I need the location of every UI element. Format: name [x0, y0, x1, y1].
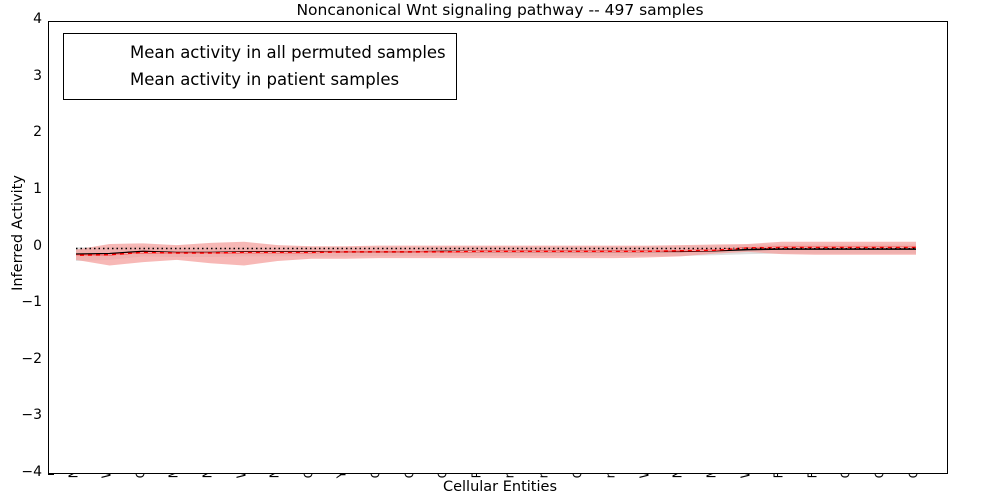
- chart-figure: Noncanonical Wnt signaling pathway -- 49…: [0, 0, 1000, 500]
- legend-label-permuted: Mean activity in all permuted samples: [130, 43, 446, 62]
- legend-label-patient: Mean activity in patient samples: [130, 70, 399, 89]
- legend-item-permuted[interactable]: Mean activity in all permuted samples: [72, 39, 446, 66]
- y-axis-tick-label: −4: [2, 465, 42, 479]
- y-axis-tick-label: 4: [2, 12, 42, 26]
- y-axis-tick-label: 2: [2, 125, 42, 139]
- y-axis-tick-mark: [48, 474, 54, 475]
- x-axis-label: Cellular Entities: [0, 479, 1000, 495]
- y-axis-tick-label: 3: [2, 69, 42, 83]
- y-axis-tick-label: −3: [2, 408, 42, 422]
- legend-item-patient[interactable]: Mean activity in patient samples: [72, 66, 446, 93]
- y-axis-tick-label: −1: [2, 295, 42, 309]
- y-axis-tick-label: 1: [2, 182, 42, 196]
- y-axis-label: Inferred Activity: [10, 123, 26, 343]
- chart-legend: Mean activity in all permuted samples Me…: [63, 33, 457, 100]
- chart-title: Noncanonical Wnt signaling pathway -- 49…: [0, 1, 1000, 19]
- y-axis-tick-label: −2: [2, 352, 42, 366]
- y-axis-tick-label: 0: [2, 239, 42, 253]
